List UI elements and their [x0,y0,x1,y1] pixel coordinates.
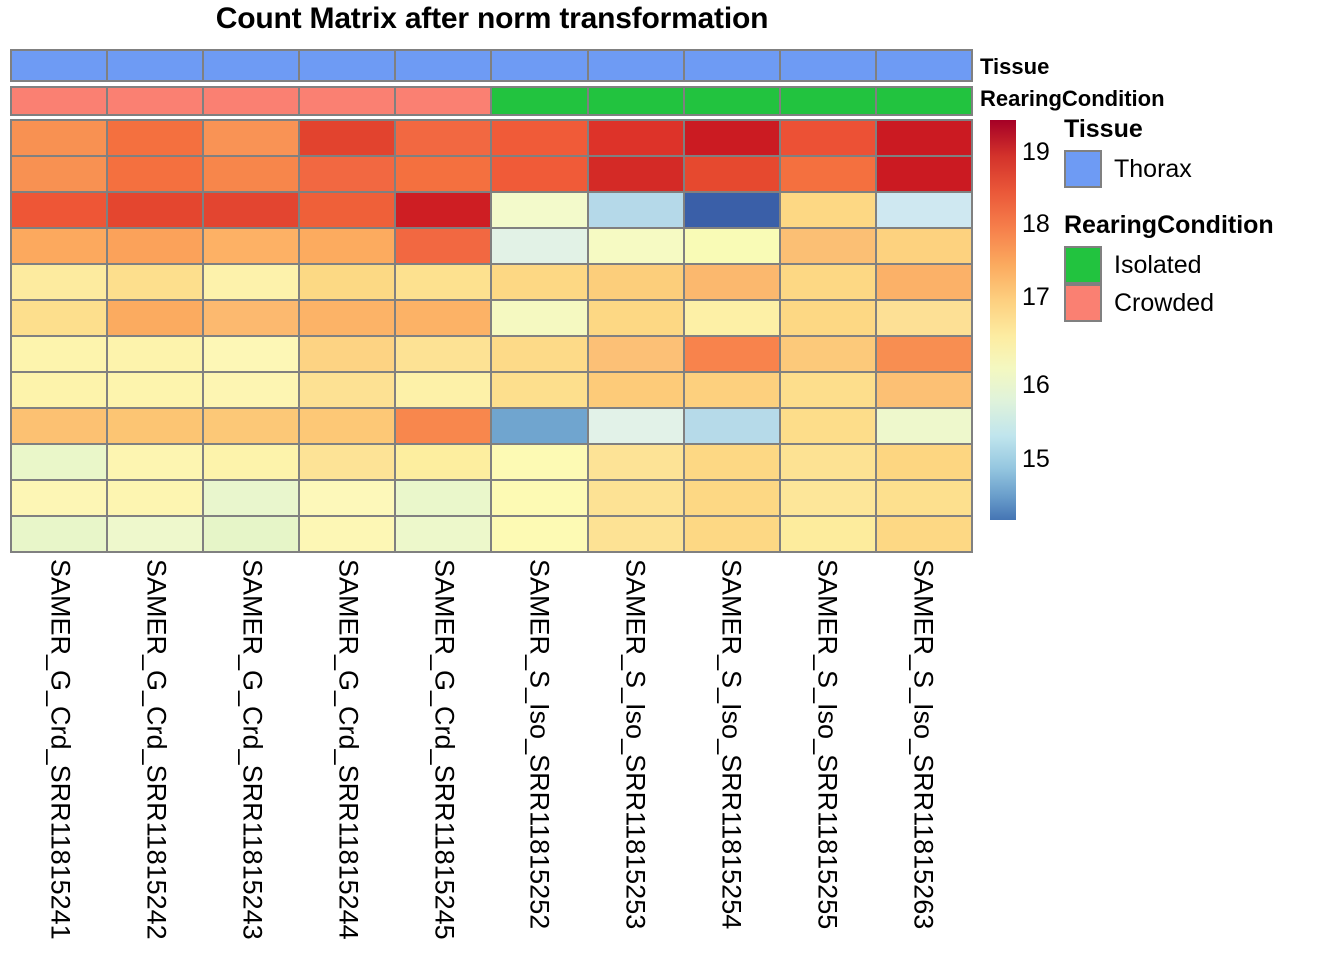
annotation-bar-tissue [10,49,973,82]
column-label: SAMER_G_Crd_SRR11815241 [46,559,73,940]
heatmap-cell [300,121,394,155]
heatmap-cell [108,193,202,227]
heatmap-row [12,265,971,299]
colorbar-tick-label: 15 [1022,447,1050,472]
heatmap-row [12,193,971,227]
annotation-cell-tissue [12,51,106,80]
heatmap-cell [12,301,106,335]
heatmap-cell [12,121,106,155]
heatmap-cell [204,445,298,479]
column-label-slot: SAMER_S_Iso_SRR11815253 [587,555,683,955]
column-label-slot: SAMER_S_Iso_SRR11815254 [683,555,779,955]
heatmap-cell [781,265,875,299]
heatmap-cell [108,337,202,371]
heatmap-row [12,121,971,155]
annotation-cell-rearing [877,88,971,114]
heatmap-cell [396,373,490,407]
heatmap-cell [685,193,779,227]
heatmap-cell [300,409,394,443]
heatmap-cell [300,193,394,227]
heatmap-cell [492,157,586,191]
heatmap-cell [12,409,106,443]
legend-title-rearingcondition: RearingCondition [1064,213,1274,238]
heatmap-cell [877,193,971,227]
heatmap-cell [781,157,875,191]
column-label-slot: SAMER_S_Iso_SRR11815263 [875,555,971,955]
heatmap-cell [204,121,298,155]
annotation-cell-rearing [781,88,875,114]
heatmap-cell [781,229,875,263]
legend-swatch-isolated [1064,246,1102,284]
heatmap-row [12,301,971,335]
colorbar-tick-label: 17 [1022,285,1050,310]
heatmap-cell [685,409,779,443]
heatmap-cell [300,265,394,299]
annotation-cell-tissue [108,51,202,80]
heatmap-row [12,409,971,443]
heatmap-cell [877,157,971,191]
heatmap-cell [781,445,875,479]
heatmap-cell [492,265,586,299]
colorbar-tick-label: 18 [1022,212,1050,237]
heatmap-cell [877,373,971,407]
heatmap-cell [300,301,394,335]
column-label-slot: SAMER_G_Crd_SRR11815242 [108,555,204,955]
legend-item-thorax[interactable]: Thorax [1064,150,1192,188]
heatmap-cell [589,481,683,515]
heatmap-cell [12,445,106,479]
legend-item-isolated[interactable]: Isolated [1064,246,1202,284]
heatmap-cell [685,301,779,335]
heatmap-cell [12,373,106,407]
column-label-slot: SAMER_G_Crd_SRR11815245 [396,555,492,955]
heatmap-cell [781,301,875,335]
heatmap-cell [12,265,106,299]
heatmap-cell [685,157,779,191]
annotation-cell-tissue [589,51,683,80]
heatmap-cell [108,517,202,551]
annotation-cell-rearing [589,88,683,114]
heatmap-cell [877,517,971,551]
heatmap-cell [204,229,298,263]
column-label: SAMER_G_Crd_SRR11815243 [238,559,265,940]
column-label: SAMER_S_Iso_SRR11815255 [814,559,841,929]
heatmap-cell [685,121,779,155]
column-label: SAMER_S_Iso_SRR11815254 [718,559,745,929]
heatmap-cell [589,121,683,155]
heatmap-cell [108,157,202,191]
heatmap-cell [492,337,586,371]
column-label-slot: SAMER_G_Crd_SRR11815241 [12,555,108,955]
heatmap-cell [685,445,779,479]
column-label: SAMER_G_Crd_SRR11815242 [142,559,169,940]
heatmap-cell [589,157,683,191]
heatmap-cell [108,265,202,299]
heatmap-cell [300,229,394,263]
annotation-cell-rearing [12,88,106,114]
heatmap-cell [204,301,298,335]
legend-swatch-thorax [1064,150,1102,188]
heatmap-cell [781,373,875,407]
heatmap-cell [396,517,490,551]
heatmap-cell [396,301,490,335]
annotation-cell-tissue [300,51,394,80]
heatmap-row [12,517,971,551]
heatmap-cell [300,157,394,191]
heatmap-cell [589,301,683,335]
heatmap-cell [492,301,586,335]
page-title: Count Matrix after norm transformation [10,2,974,36]
heatmap-cell [204,373,298,407]
heatmap-cell [300,373,394,407]
heatmap-cell [492,229,586,263]
heatmap-cell [589,517,683,551]
heatmap-cell [12,229,106,263]
heatmap-cell [396,445,490,479]
annotation-cell-tissue [492,51,586,80]
heatmap-row [12,373,971,407]
heatmap-cell [396,337,490,371]
annotation-cell-rearing [396,88,490,114]
annotation-cell-tissue [877,51,971,80]
heatmap-row [12,445,971,479]
heatmap-cell [204,517,298,551]
heatmap-cell [492,517,586,551]
annotation-label-rearing: RearingCondition [980,88,1165,110]
heatmap-cell [108,445,202,479]
heatmap-cell [300,481,394,515]
colorbar-gradient [990,120,1016,520]
heatmap-cell [204,157,298,191]
heatmap-cell [589,265,683,299]
heatmap-cell [589,337,683,371]
heatmap-cell [492,121,586,155]
heatmap-cell [396,409,490,443]
heatmap-cell [108,481,202,515]
heatmap-cell [492,481,586,515]
annotation-label-tissue: Tissue [980,56,1049,78]
heatmap-cell [12,193,106,227]
heatmap-cell [781,481,875,515]
heatmap-cell [492,193,586,227]
annotation-cell-rearing [492,88,586,114]
heatmap-cell [781,337,875,371]
heatmap-cell [396,229,490,263]
column-label-slot: SAMER_G_Crd_SRR11815244 [300,555,396,955]
heatmap-cell [12,157,106,191]
heatmap-cell [877,409,971,443]
heatmap-cell [877,265,971,299]
heatmap-cell [877,337,971,371]
heatmap-cell [396,481,490,515]
annotation-bar-rearing [10,86,973,116]
heatmap-cell [877,445,971,479]
heatmap-row [12,229,971,263]
heatmap-row [12,157,971,191]
heatmap-cell [12,481,106,515]
heatmap-cell [685,517,779,551]
heatmap-cell [12,517,106,551]
heatmap-cell [877,301,971,335]
annotation-cell-tissue [781,51,875,80]
heatmap-cell [589,445,683,479]
legend-label-crowded: Crowded [1114,291,1214,316]
column-label: SAMER_G_Crd_SRR11815245 [430,559,457,940]
heatmap-cell [589,229,683,263]
column-label: SAMER_S_Iso_SRR11815263 [910,559,937,929]
colorbar-tick-label: 19 [1022,140,1050,165]
heatmap-cell [300,337,394,371]
heatmap-cell [204,409,298,443]
heatmap-cell [781,193,875,227]
legend-title-tissue: Tissue [1064,117,1143,142]
annotation-cell-rearing [108,88,202,114]
heatmap-cell [300,445,394,479]
annotation-cell-rearing [300,88,394,114]
heatmap-cell [781,517,875,551]
column-label: SAMER_S_Iso_SRR11815252 [526,559,553,929]
legend-label-isolated: Isolated [1114,253,1202,278]
heatmap-grid [10,119,973,553]
heatmap-cell [781,121,875,155]
heatmap-cell [589,409,683,443]
heatmap-cell [108,301,202,335]
heatmap-cell [396,157,490,191]
heatmap-cell [204,193,298,227]
heatmap-cell [685,265,779,299]
heatmap-cell [492,445,586,479]
heatmap-cell [685,229,779,263]
heatmap-cell [781,409,875,443]
column-label-slot: SAMER_S_Iso_SRR11815255 [779,555,875,955]
column-label-slot: SAMER_S_Iso_SRR11815252 [492,555,588,955]
heatmap-cell [877,229,971,263]
heatmap-cell [300,517,394,551]
heatmap-cell [492,409,586,443]
heatmap-row [12,337,971,371]
legend-item-crowded[interactable]: Crowded [1064,284,1214,322]
heatmap-cell [589,193,683,227]
column-label: SAMER_S_Iso_SRR11815253 [622,559,649,929]
heatmap-cell [877,121,971,155]
annotation-cell-tissue [685,51,779,80]
heatmap-cell [204,481,298,515]
heatmap-cell [877,481,971,515]
annotation-cell-tissue [204,51,298,80]
column-label: SAMER_G_Crd_SRR11815244 [334,559,361,940]
colorbar-tick-label: 16 [1022,373,1050,398]
heatmap-cell [204,265,298,299]
heatmap-cell [108,409,202,443]
legend-label-thorax: Thorax [1114,157,1192,182]
heatmap-cell [685,337,779,371]
heatmap-cell [108,229,202,263]
heatmap-row [12,481,971,515]
column-label-slot: SAMER_G_Crd_SRR11815243 [204,555,300,955]
heatmap-cell [685,481,779,515]
heatmap-cell [685,373,779,407]
column-labels: SAMER_G_Crd_SRR11815241SAMER_G_Crd_SRR11… [12,555,971,955]
annotation-cell-rearing [204,88,298,114]
annotation-cell-rearing [685,88,779,114]
heatmap-cell [108,373,202,407]
heatmap-cell [492,373,586,407]
heatmap-cell [396,121,490,155]
heatmap-cell [396,265,490,299]
heatmap-cell [396,193,490,227]
heatmap-cell [108,121,202,155]
legend-swatch-crowded [1064,284,1102,322]
heatmap-cell [589,373,683,407]
heatmap-cell [12,337,106,371]
annotation-cell-tissue [396,51,490,80]
heatmap-cell [204,337,298,371]
